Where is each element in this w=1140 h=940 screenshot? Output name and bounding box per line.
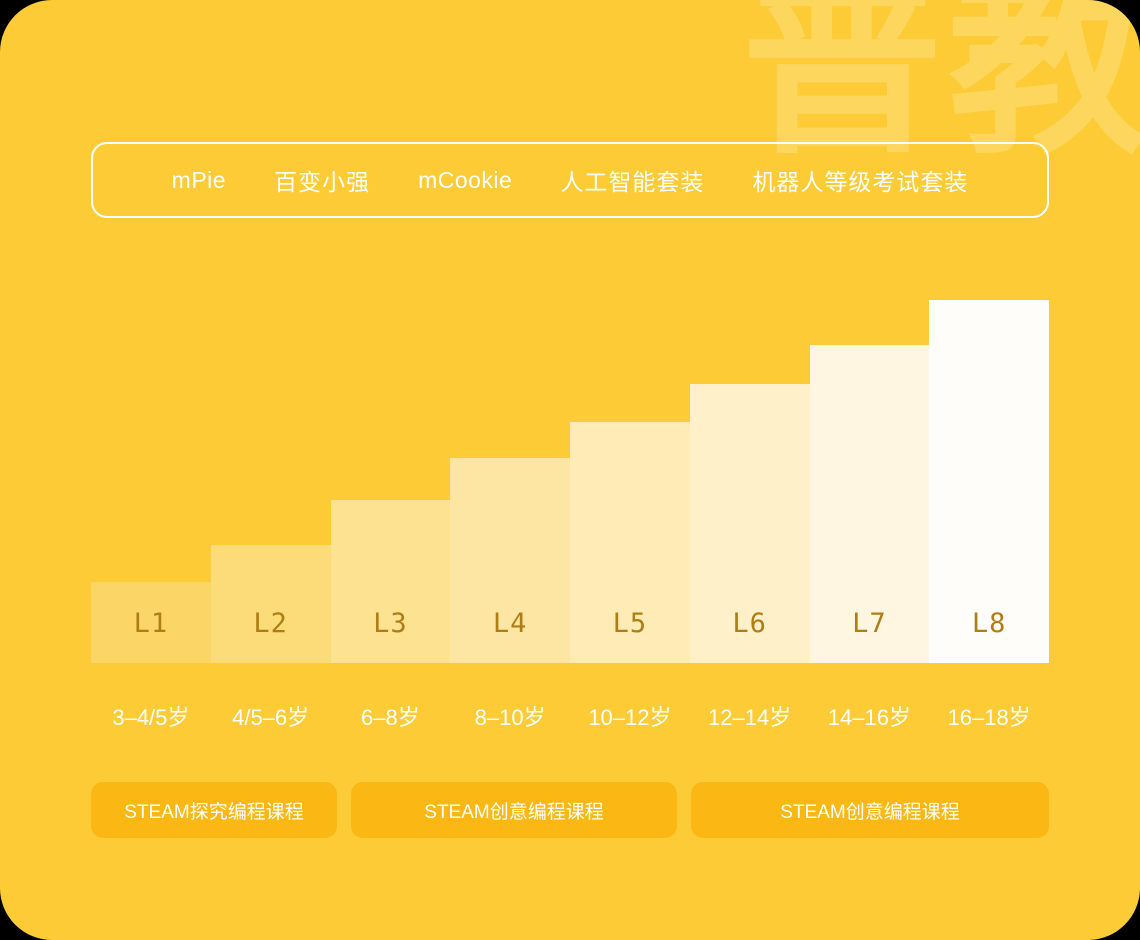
course-level-card: 普教 mPie百变小强mCookie人工智能套装机器人等级考试套装 L1L2L3…: [0, 0, 1140, 940]
course-badge-row: STEAM探究编程课程STEAM创意编程课程STEAM创意编程课程: [91, 782, 1049, 838]
bar-label: L4: [493, 608, 528, 639]
age-range-label: 4/5–6岁: [211, 700, 331, 732]
tab-item-3[interactable]: 人工智能套装: [536, 163, 728, 197]
bar-l2: L2: [211, 545, 331, 663]
age-range-label: 3–4/5岁: [91, 700, 211, 732]
tab-item-4[interactable]: 机器人等级考试套装: [728, 163, 992, 197]
bar-label: L5: [613, 608, 648, 639]
bar-l7: L7: [810, 345, 930, 663]
bar-label: L6: [732, 608, 767, 639]
product-tabs[interactable]: mPie百变小强mCookie人工智能套装机器人等级考试套装: [91, 142, 1049, 218]
age-range-label: 10–12岁: [570, 700, 690, 732]
bar-label: L3: [373, 608, 408, 639]
level-bar-chart: L1L2L3L4L5L6L7L8: [91, 290, 1049, 663]
bar-label: L7: [852, 608, 887, 639]
age-range-label: 16–18岁: [929, 700, 1049, 732]
bar-l3: L3: [331, 500, 451, 663]
course-badge-0[interactable]: STEAM探究编程课程: [91, 782, 337, 838]
age-range-label: 8–10岁: [450, 700, 570, 732]
bar-label: L8: [972, 608, 1007, 639]
bar-label: L1: [134, 608, 169, 639]
age-range-row: 3–4/5岁4/5–6岁6–8岁8–10岁10–12岁12–14岁14–16岁1…: [91, 700, 1049, 732]
bar-l5: L5: [570, 422, 690, 663]
age-range-label: 14–16岁: [810, 700, 930, 732]
age-range-label: 6–8岁: [331, 700, 451, 732]
age-range-label: 12–14岁: [690, 700, 810, 732]
tab-item-0[interactable]: mPie: [148, 167, 250, 194]
tab-item-2[interactable]: mCookie: [394, 167, 536, 194]
bar-label: L2: [253, 608, 288, 639]
tab-item-1[interactable]: 百变小强: [250, 163, 394, 197]
bar-l1: L1: [91, 582, 211, 663]
bar-l8: L8: [929, 300, 1049, 663]
course-badge-2[interactable]: STEAM创意编程课程: [691, 782, 1049, 838]
bar-l6: L6: [690, 384, 810, 663]
bar-l4: L4: [450, 458, 570, 663]
course-badge-1[interactable]: STEAM创意编程课程: [351, 782, 677, 838]
